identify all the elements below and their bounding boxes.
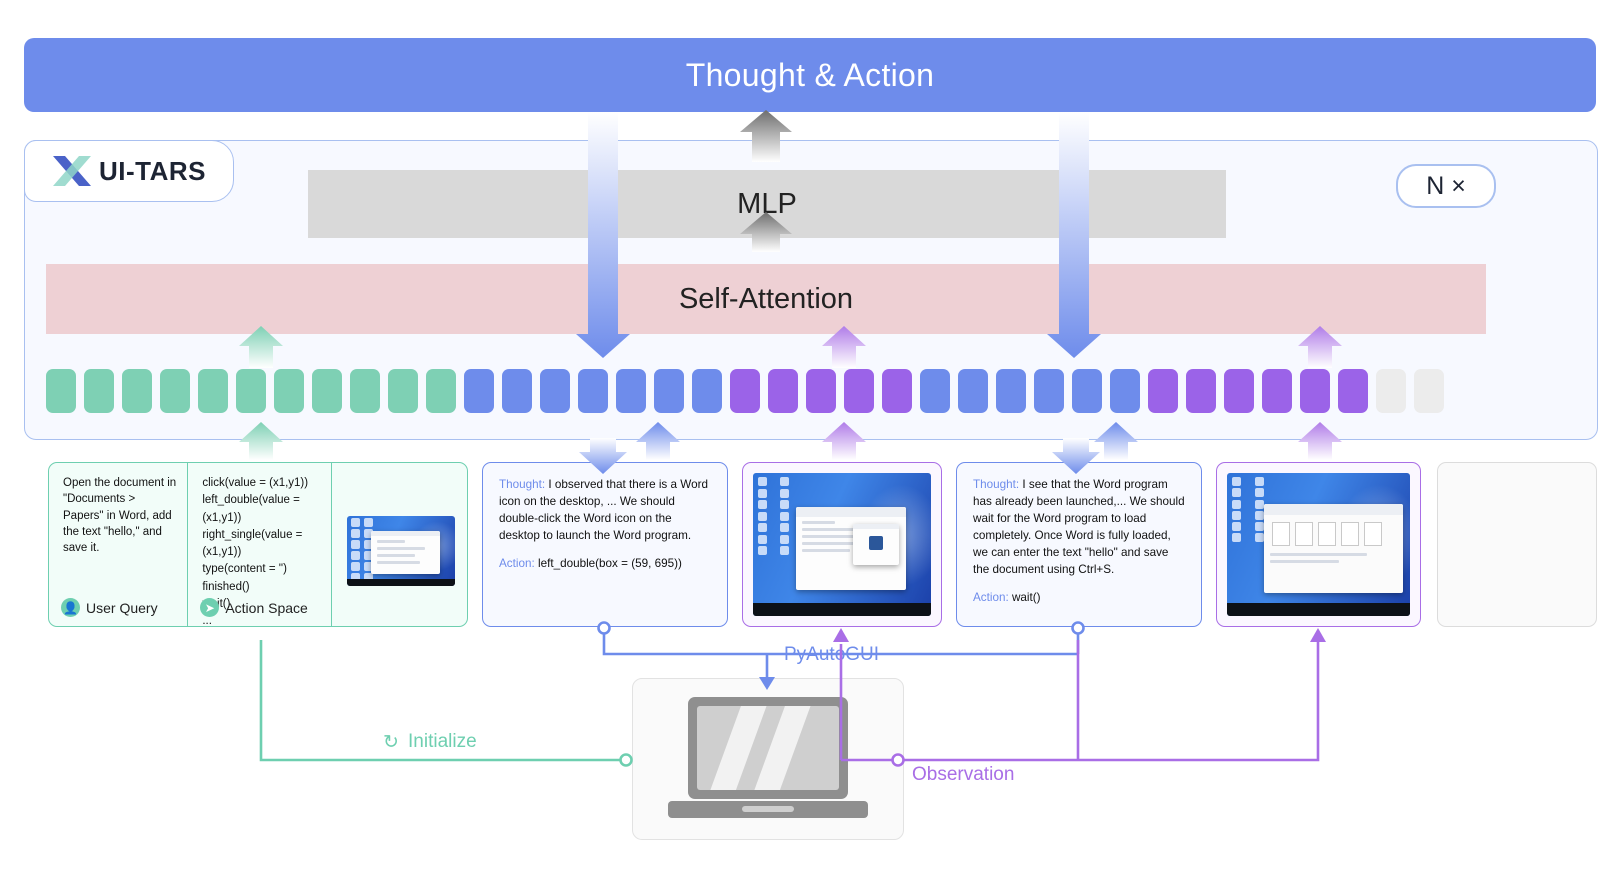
mlp-label: MLP <box>737 188 797 221</box>
user-query-column: Open the document in "Documents > Papers… <box>49 463 188 626</box>
token-block <box>1034 369 1064 413</box>
token-block <box>1186 369 1216 413</box>
token-block <box>806 369 836 413</box>
action-space-line: type(content = '') <box>202 561 320 578</box>
pyautogui-label: PyAutoGUI <box>784 644 879 666</box>
token-block <box>350 369 380 413</box>
initial-screenshot-cell <box>332 463 467 626</box>
token-block <box>1110 369 1140 413</box>
action-body-1: left_double(box = (59, 695)) <box>535 557 682 570</box>
token-block <box>84 369 114 413</box>
action-label-1: Action: <box>499 557 535 570</box>
user-icon: 👤 <box>61 598 80 617</box>
token-block <box>1148 369 1178 413</box>
initialize-label: Initialize <box>408 731 477 753</box>
observation-label: Observation <box>912 764 1014 786</box>
token-block <box>540 369 570 413</box>
action-space-line: finished() <box>202 579 320 596</box>
action-space-line: click(value = (x1,y1)) <box>202 475 320 492</box>
token-block <box>920 369 950 413</box>
laptop-icon <box>688 697 848 799</box>
action-space-line: left_double(value = (x1,y1)) <box>202 492 320 527</box>
send-icon: ➤ <box>200 598 219 617</box>
token-block <box>464 369 494 413</box>
action-space-footer: ➤ Action Space <box>200 598 308 617</box>
token-block <box>1414 369 1444 413</box>
banner-title: Thought & Action <box>686 57 935 94</box>
token-block <box>1072 369 1102 413</box>
thought-card-1: Thought: I observed that there is a Word… <box>482 462 728 627</box>
refresh-icon: ↻ <box>383 731 399 754</box>
token-block <box>426 369 456 413</box>
token-block <box>616 369 646 413</box>
token-block <box>1262 369 1292 413</box>
token-block <box>1300 369 1330 413</box>
initialize-node <box>621 755 632 766</box>
ui-tars-logo: UI-TARS <box>24 140 234 202</box>
initial-screenshot <box>347 516 455 586</box>
thought-action-banner: Thought & Action <box>24 38 1596 112</box>
laptop-trackpad <box>742 806 794 812</box>
token-block <box>692 369 722 413</box>
self-attention-block: Self-Attention <box>46 264 1486 334</box>
repeat-badge: N × <box>1396 164 1496 208</box>
observation-bus-purple <box>841 640 1318 760</box>
token-block <box>578 369 608 413</box>
user-query-footer: 👤 User Query <box>61 598 158 617</box>
observation-arrowhead-1 <box>833 628 849 642</box>
user-query-card: Open the document in "Documents > Papers… <box>48 462 468 627</box>
token-block <box>160 369 190 413</box>
observation-card-1 <box>742 462 942 627</box>
token-block <box>958 369 988 413</box>
thought-body-2: I see that the Word program has already … <box>973 478 1185 576</box>
token-block <box>1338 369 1368 413</box>
action-space-label: Action Space <box>225 600 308 616</box>
token-block <box>844 369 874 413</box>
x-logo-icon <box>51 154 93 188</box>
screenshot-1 <box>753 473 931 616</box>
user-query-label: User Query <box>86 600 158 616</box>
thought-label-2: Thought: <box>973 478 1019 491</box>
thought-text-1: Thought: I observed that there is a Word… <box>499 477 713 545</box>
diagram-root: Thought & Action UI-TARS N × MLP Self-At… <box>0 0 1622 890</box>
token-block <box>122 369 152 413</box>
token-block <box>198 369 228 413</box>
token-block <box>1376 369 1406 413</box>
user-query-text: Open the document in "Documents > Papers… <box>63 475 177 557</box>
token-block <box>312 369 342 413</box>
self-attention-label: Self-Attention <box>679 283 853 316</box>
action-space-column: click(value = (x1,y1))left_double(value … <box>188 463 331 626</box>
action-label-2: Action: <box>973 591 1009 604</box>
observation-card-2 <box>1216 462 1421 627</box>
action-text-2: Action: wait() <box>973 591 1187 604</box>
token-block <box>730 369 760 413</box>
logo-text: UI-TARS <box>99 156 206 187</box>
thought-card-2: Thought: I see that the Word program has… <box>956 462 1202 627</box>
token-block <box>502 369 532 413</box>
next-step-card-placeholder <box>1437 462 1597 627</box>
token-row <box>46 369 1486 413</box>
token-block <box>388 369 418 413</box>
thought-text-2: Thought: I see that the Word program has… <box>973 477 1187 579</box>
token-block <box>236 369 266 413</box>
action-space-line: right_single(value = (x1,y1)) <box>202 527 320 562</box>
token-block <box>882 369 912 413</box>
observation-arrowhead-2 <box>1310 628 1326 642</box>
screenshot-2 <box>1227 473 1410 616</box>
token-block <box>46 369 76 413</box>
token-block <box>654 369 684 413</box>
token-block <box>996 369 1026 413</box>
token-block <box>274 369 304 413</box>
mlp-block: MLP <box>308 170 1226 238</box>
thought-label-1: Thought: <box>499 478 545 491</box>
computer-environment <box>632 678 904 840</box>
action-text-1: Action: left_double(box = (59, 695)) <box>499 557 713 570</box>
action-body-2: wait() <box>1009 591 1041 604</box>
token-block <box>768 369 798 413</box>
token-block <box>1224 369 1254 413</box>
